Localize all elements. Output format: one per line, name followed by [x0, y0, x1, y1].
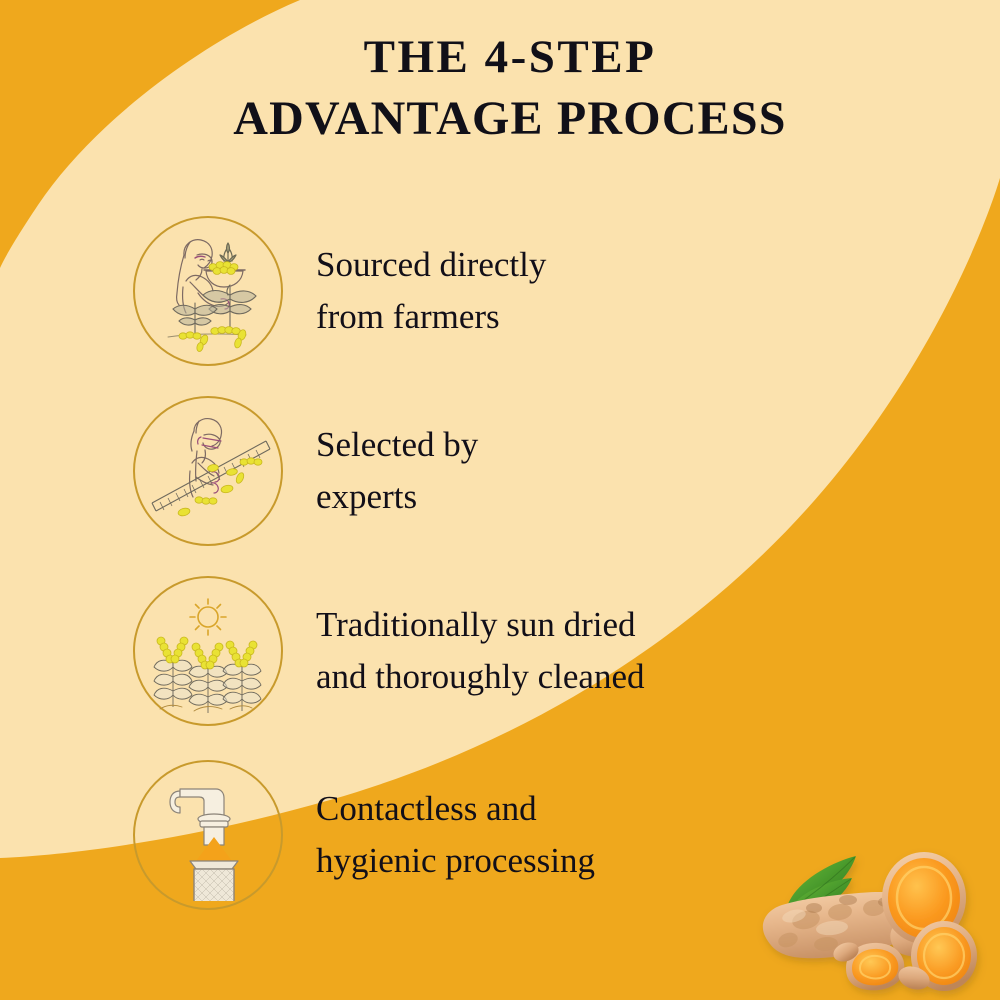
page-title: THE 4-STEP ADVANTAGE PROCESS: [150, 26, 870, 150]
title-line-2: ADVANTAGE PROCESS: [150, 88, 870, 150]
step-text-1-line-1: Sourced directly: [316, 239, 546, 291]
turmeric-powder-cone: [196, 837, 232, 861]
step-item-2: Selected by experts: [133, 396, 478, 546]
step-text-4-line-1: Contactless and: [316, 783, 595, 835]
contactless-processing-machine-icon: [133, 760, 283, 910]
step-text-2-line-1: Selected by: [316, 419, 478, 471]
step-text-1: Sourced directly from farmers: [316, 239, 546, 343]
step-text-3-line-1: Traditionally sun dried: [316, 599, 645, 651]
step-item-4: Contactless and hygienic processing: [133, 760, 595, 910]
step-text-1-line-2: from farmers: [316, 291, 546, 343]
step-text-4-line-2: hygienic processing: [316, 835, 595, 887]
sun-drying-crops-icon: [133, 576, 283, 726]
step-text-3-line-2: and thoroughly cleaned: [316, 651, 645, 703]
sun-icon: [190, 599, 226, 635]
worker-conveyor-sorting-icon: [133, 396, 283, 546]
step-item-1: Sourced directly from farmers: [133, 216, 546, 366]
farmer-harvesting-icon: [133, 216, 283, 366]
infographic-poster: THE 4-STEP ADVANTAGE PROCESS: [0, 0, 1000, 1000]
step-text-4: Contactless and hygienic processing: [316, 783, 595, 887]
step-text-2: Selected by experts: [316, 419, 478, 523]
step-text-2-line-2: experts: [316, 471, 478, 523]
title-line-1: THE 4-STEP: [150, 26, 870, 88]
turmeric-root-with-leaves: [728, 788, 1000, 1000]
step-text-3: Traditionally sun dried and thoroughly c…: [316, 599, 645, 703]
step-item-3: Traditionally sun dried and thoroughly c…: [133, 576, 645, 726]
